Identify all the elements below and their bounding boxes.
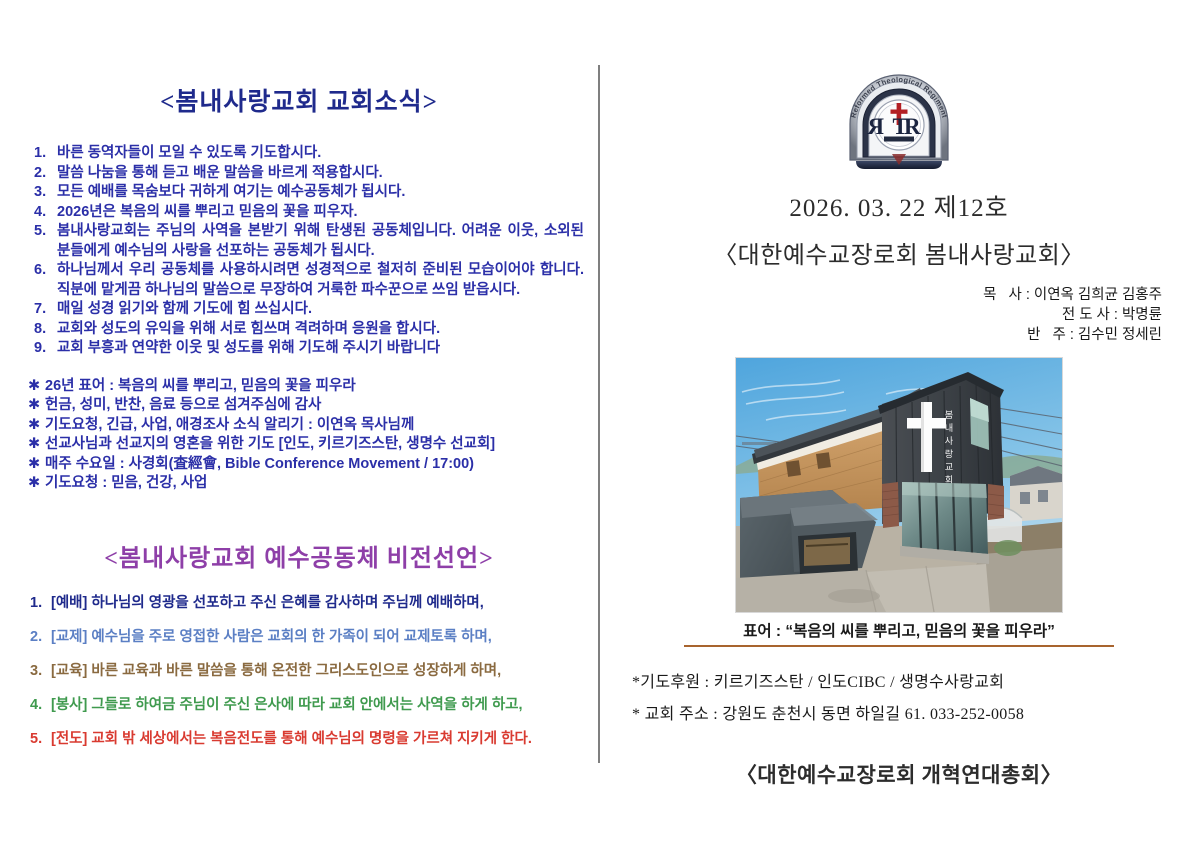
svg-text:랑: 랑 <box>945 448 954 459</box>
announcement-text: 매주 수요일 : 사경회(査經會, Bible Conference Movem… <box>45 456 474 472</box>
vision-item-text: [봉사] 그들로 하여금 주님이 주신 은사에 따라 교회 안에서는 사역을 하… <box>51 697 523 713</box>
vision-item: 2. [교제] 예수님을 주로 영접한 사람은 교회의 한 가족이 되어 교제토… <box>30 629 586 646</box>
svg-text:R: R <box>867 114 884 139</box>
vision-item-text: [교육] 바른 교육과 바른 말씀을 통해 온전한 그리스도인으로 성장하게 하… <box>51 663 501 679</box>
news-item-text: 말씀 나눔을 통해 듣고 배운 말씀을 바르게 적용합시다. <box>57 165 383 181</box>
news-item: 5. 봄내사랑교회는 주님의 사역을 본받기 위해 탄생된 공동체입니다. 어려… <box>34 222 584 261</box>
vision-item-number: 1. <box>30 595 42 612</box>
news-item-number: 7. <box>34 300 54 320</box>
news-item-text: 매일 성경 읽기와 함께 기도에 힘 쓰십시다. <box>57 301 312 317</box>
vision-item: 4. [봉사] 그들로 하여금 주님이 주신 은사에 따라 교회 안에서는 사역… <box>30 697 586 714</box>
left-column: <봄내사랑교회 교회소식> 1. 바른 동역자들이 모일 수 있도록 기도합시다… <box>0 0 598 848</box>
svg-text:사: 사 <box>945 436 954 446</box>
vision-item-text: [교제] 예수님을 주로 영접한 사람은 교회의 한 가족이 되어 교제토록 하… <box>51 629 492 645</box>
vision-item-text: [예배] 하나님의 영광을 선포하고 주신 은혜를 감사하며 주님께 예배하며, <box>51 595 484 611</box>
announcement-item: ✱ 기도요청, 긴급, 사업, 애경조사 소식 알리기 : 이연옥 목사님께 <box>28 416 584 436</box>
announcement-item: ✱ 매주 수요일 : 사경회(査經會, Bible Conference Mov… <box>28 455 584 475</box>
staff-role: 목 사 <box>983 287 1026 303</box>
asterisk-bullet-icon: ✱ <box>28 455 40 475</box>
contact-info: *기도후원 : 키르기즈스탄 / 인도CIBC / 생명수사랑교회 * 교회 주… <box>632 667 1200 731</box>
news-item: 1. 바른 동역자들이 모일 수 있도록 기도합시다. <box>34 144 584 164</box>
staff-list: 목 사: 이연옥 김희균 김홍주 전도사: 박명륜 반 주: 김수민 정세린 <box>598 285 1162 345</box>
asterisk-bullet-icon: ✱ <box>28 474 40 494</box>
staff-names: 김수민 정세린 <box>1078 327 1162 343</box>
column-divider <box>598 65 600 763</box>
svg-text:내: 내 <box>945 423 953 433</box>
announcement-item: ✱ 헌금, 성미, 반찬, 음료 등으로 섬겨주심에 감사 <box>28 396 584 416</box>
vision-item-number: 3. <box>30 663 42 680</box>
vision-item: 5. [전도] 교회 밖 세상에서는 복음전도를 통해 예수님의 명령을 가르쳐… <box>30 731 586 748</box>
news-item-text: 교회 부흥과 연약한 이웃 및 성도를 위해 기도해 주시기 바랍니다 <box>57 340 440 356</box>
news-item-text: 모든 예배를 목숨보다 귀하게 여기는 예수공동체가 됩시다. <box>57 184 405 200</box>
announcement-text: 기도요청, 긴급, 사업, 애경조사 소식 알리기 : 이연옥 목사님께 <box>45 417 414 433</box>
church-building-photo: 봄 내 사 랑 교 회 <box>735 357 1063 613</box>
news-item-number: 1. <box>34 144 54 164</box>
news-item-number: 9. <box>34 339 54 359</box>
church-name-line: 〈대한예수교장로회 봄내사랑교회〉 <box>598 235 1200 270</box>
news-list: 1. 바른 동역자들이 모일 수 있도록 기도합시다. 2. 말씀 나눔을 통해… <box>0 144 598 359</box>
announcement-item: ✱ 기도요청 : 믿음, 건강, 사업 <box>28 474 584 494</box>
news-item-number: 2. <box>34 164 54 184</box>
church-building-illustration: 봄 내 사 랑 교 회 <box>736 358 1062 612</box>
vision-item-number: 5. <box>30 731 42 748</box>
news-item: 4. 2026년은 복음의 씨를 뿌리고 믿음의 꽃을 피우자. <box>34 203 584 223</box>
staff-role: 전도사 <box>1062 307 1114 323</box>
news-item-text: 교회와 성도의 유익을 위해 서로 힘쓰며 격려하며 응원을 합시다. <box>57 321 440 337</box>
news-item-number: 6. <box>34 261 54 281</box>
vision-item-number: 2. <box>30 629 42 646</box>
seminary-logo: Reformed Theological Regiment R T R <box>840 68 958 176</box>
news-item-number: 8. <box>34 320 54 340</box>
news-item-text: 2026년은 복음의 씨를 뿌리고 믿음의 꽃을 피우자. <box>57 204 358 220</box>
staff-names: 박명륜 <box>1122 307 1162 323</box>
church-address-line: * 교회 주소 : 강원도 춘천시 동면 하일길 61. 033-252-005… <box>632 699 1200 731</box>
announcement-list: ✱ 26년 표어 : 복음의 씨를 뿌리고, 믿음의 꽃을 피우라 ✱ 헌금, … <box>0 377 598 494</box>
staff-separator: : <box>1114 307 1118 323</box>
staff-names: 이연옥 김희균 김홍주 <box>1034 287 1162 303</box>
news-item: 9. 교회 부흥과 연약한 이웃 및 성도를 위해 기도해 주시기 바랍니다 <box>34 339 584 359</box>
news-section-title: <봄내사랑교회 교회소식> <box>0 82 598 118</box>
svg-text:R: R <box>904 114 921 139</box>
logo-monogram: R T R <box>867 114 921 139</box>
staff-row: 전도사: 박명륜 <box>598 305 1162 325</box>
vision-item: 3. [교육] 바른 교육과 바른 말씀을 통해 온전한 그리스도인으로 성장하… <box>30 663 586 680</box>
vision-item-number: 4. <box>30 697 42 714</box>
asterisk-bullet-icon: ✱ <box>28 396 40 416</box>
announcement-text: 26년 표어 : 복음의 씨를 뿌리고, 믿음의 꽃을 피우라 <box>45 378 356 394</box>
announcement-text: 헌금, 성미, 반찬, 음료 등으로 섬겨주심에 감사 <box>45 397 321 413</box>
rtr-crest-icon: Reformed Theological Regiment R T R <box>840 68 958 176</box>
staff-separator: : <box>1070 327 1074 343</box>
staff-row: 목 사: 이연옥 김희균 김홍주 <box>598 285 1162 305</box>
staff-role: 반 주 <box>1027 327 1070 343</box>
announcement-text: 선교사님과 선교지의 영혼을 위한 기도 [인도, 키르기즈스탄, 생명수 선교… <box>45 436 495 452</box>
vision-item: 1. [예배] 하나님의 영광을 선포하고 주신 은혜를 감사하며 주님께 예배… <box>30 595 586 612</box>
news-item: 7. 매일 성경 읽기와 함께 기도에 힘 쓰십시다. <box>34 300 584 320</box>
vision-item-text: [전도] 교회 밖 세상에서는 복음전도를 통해 예수님의 명령을 가르쳐 지키… <box>51 731 532 747</box>
news-item-number: 5. <box>34 222 54 242</box>
denomination-line: 〈대한예수교장로회 개혁연대총회〉 <box>598 759 1200 789</box>
news-item: 8. 교회와 성도의 유익을 위해 서로 힘쓰며 격려하며 응원을 합시다. <box>34 320 584 340</box>
announcement-text: 기도요청 : 믿음, 건강, 사업 <box>45 475 207 491</box>
news-item: 6. 하나님께서 우리 공동체를 사용하시려면 성경적으로 철저히 준비된 모습… <box>34 261 584 300</box>
news-item: 3. 모든 예배를 목숨보다 귀하게 여기는 예수공동체가 됩시다. <box>34 183 584 203</box>
announcement-item: ✱ 선교사님과 선교지의 영혼을 위한 기도 [인도, 키르기즈스탄, 생명수 … <box>28 435 584 455</box>
asterisk-bullet-icon: ✱ <box>28 435 40 455</box>
asterisk-bullet-icon: ✱ <box>28 416 40 436</box>
staff-separator: : <box>1026 287 1030 303</box>
svg-text:교: 교 <box>945 462 953 472</box>
news-item-text: 하나님께서 우리 공동체를 사용하시려면 성경적으로 철저히 준비된 모습이어야… <box>57 262 584 298</box>
svg-text:봄: 봄 <box>945 410 953 420</box>
announcement-item: ✱ 26년 표어 : 복음의 씨를 뿌리고, 믿음의 꽃을 피우라 <box>28 377 584 397</box>
news-item-number: 3. <box>34 183 54 203</box>
right-column: Reformed Theological Regiment R T R 2026… <box>598 0 1200 848</box>
asterisk-bullet-icon: ✱ <box>28 377 40 397</box>
vision-section-title: <봄내사랑교회 예수공동체 비전선언> <box>0 538 598 573</box>
church-slogan: 표어 : “복음의 씨를 뿌리고, 믿음의 꽃을 피우라” <box>684 619 1114 647</box>
prayer-support-line: *기도후원 : 키르기즈스탄 / 인도CIBC / 생명수사랑교회 <box>632 667 1200 699</box>
news-item-text: 봄내사랑교회는 주님의 사역을 본받기 위해 탄생된 공동체입니다. 어려운 이… <box>57 223 584 259</box>
staff-row: 반 주: 김수민 정세린 <box>598 325 1162 345</box>
issue-line: 2026. 03. 22 제12호 <box>598 188 1200 224</box>
news-item-text: 바른 동역자들이 모일 수 있도록 기도합시다. <box>57 145 321 161</box>
news-item-number: 4. <box>34 203 54 223</box>
news-item: 2. 말씀 나눔을 통해 듣고 배운 말씀을 바르게 적용합시다. <box>34 164 584 184</box>
bulletin-page: <봄내사랑교회 교회소식> 1. 바른 동역자들이 모일 수 있도록 기도합시다… <box>0 0 1200 848</box>
vision-list: 1. [예배] 하나님의 영광을 선포하고 주신 은혜를 감사하며 주님께 예배… <box>0 595 598 748</box>
